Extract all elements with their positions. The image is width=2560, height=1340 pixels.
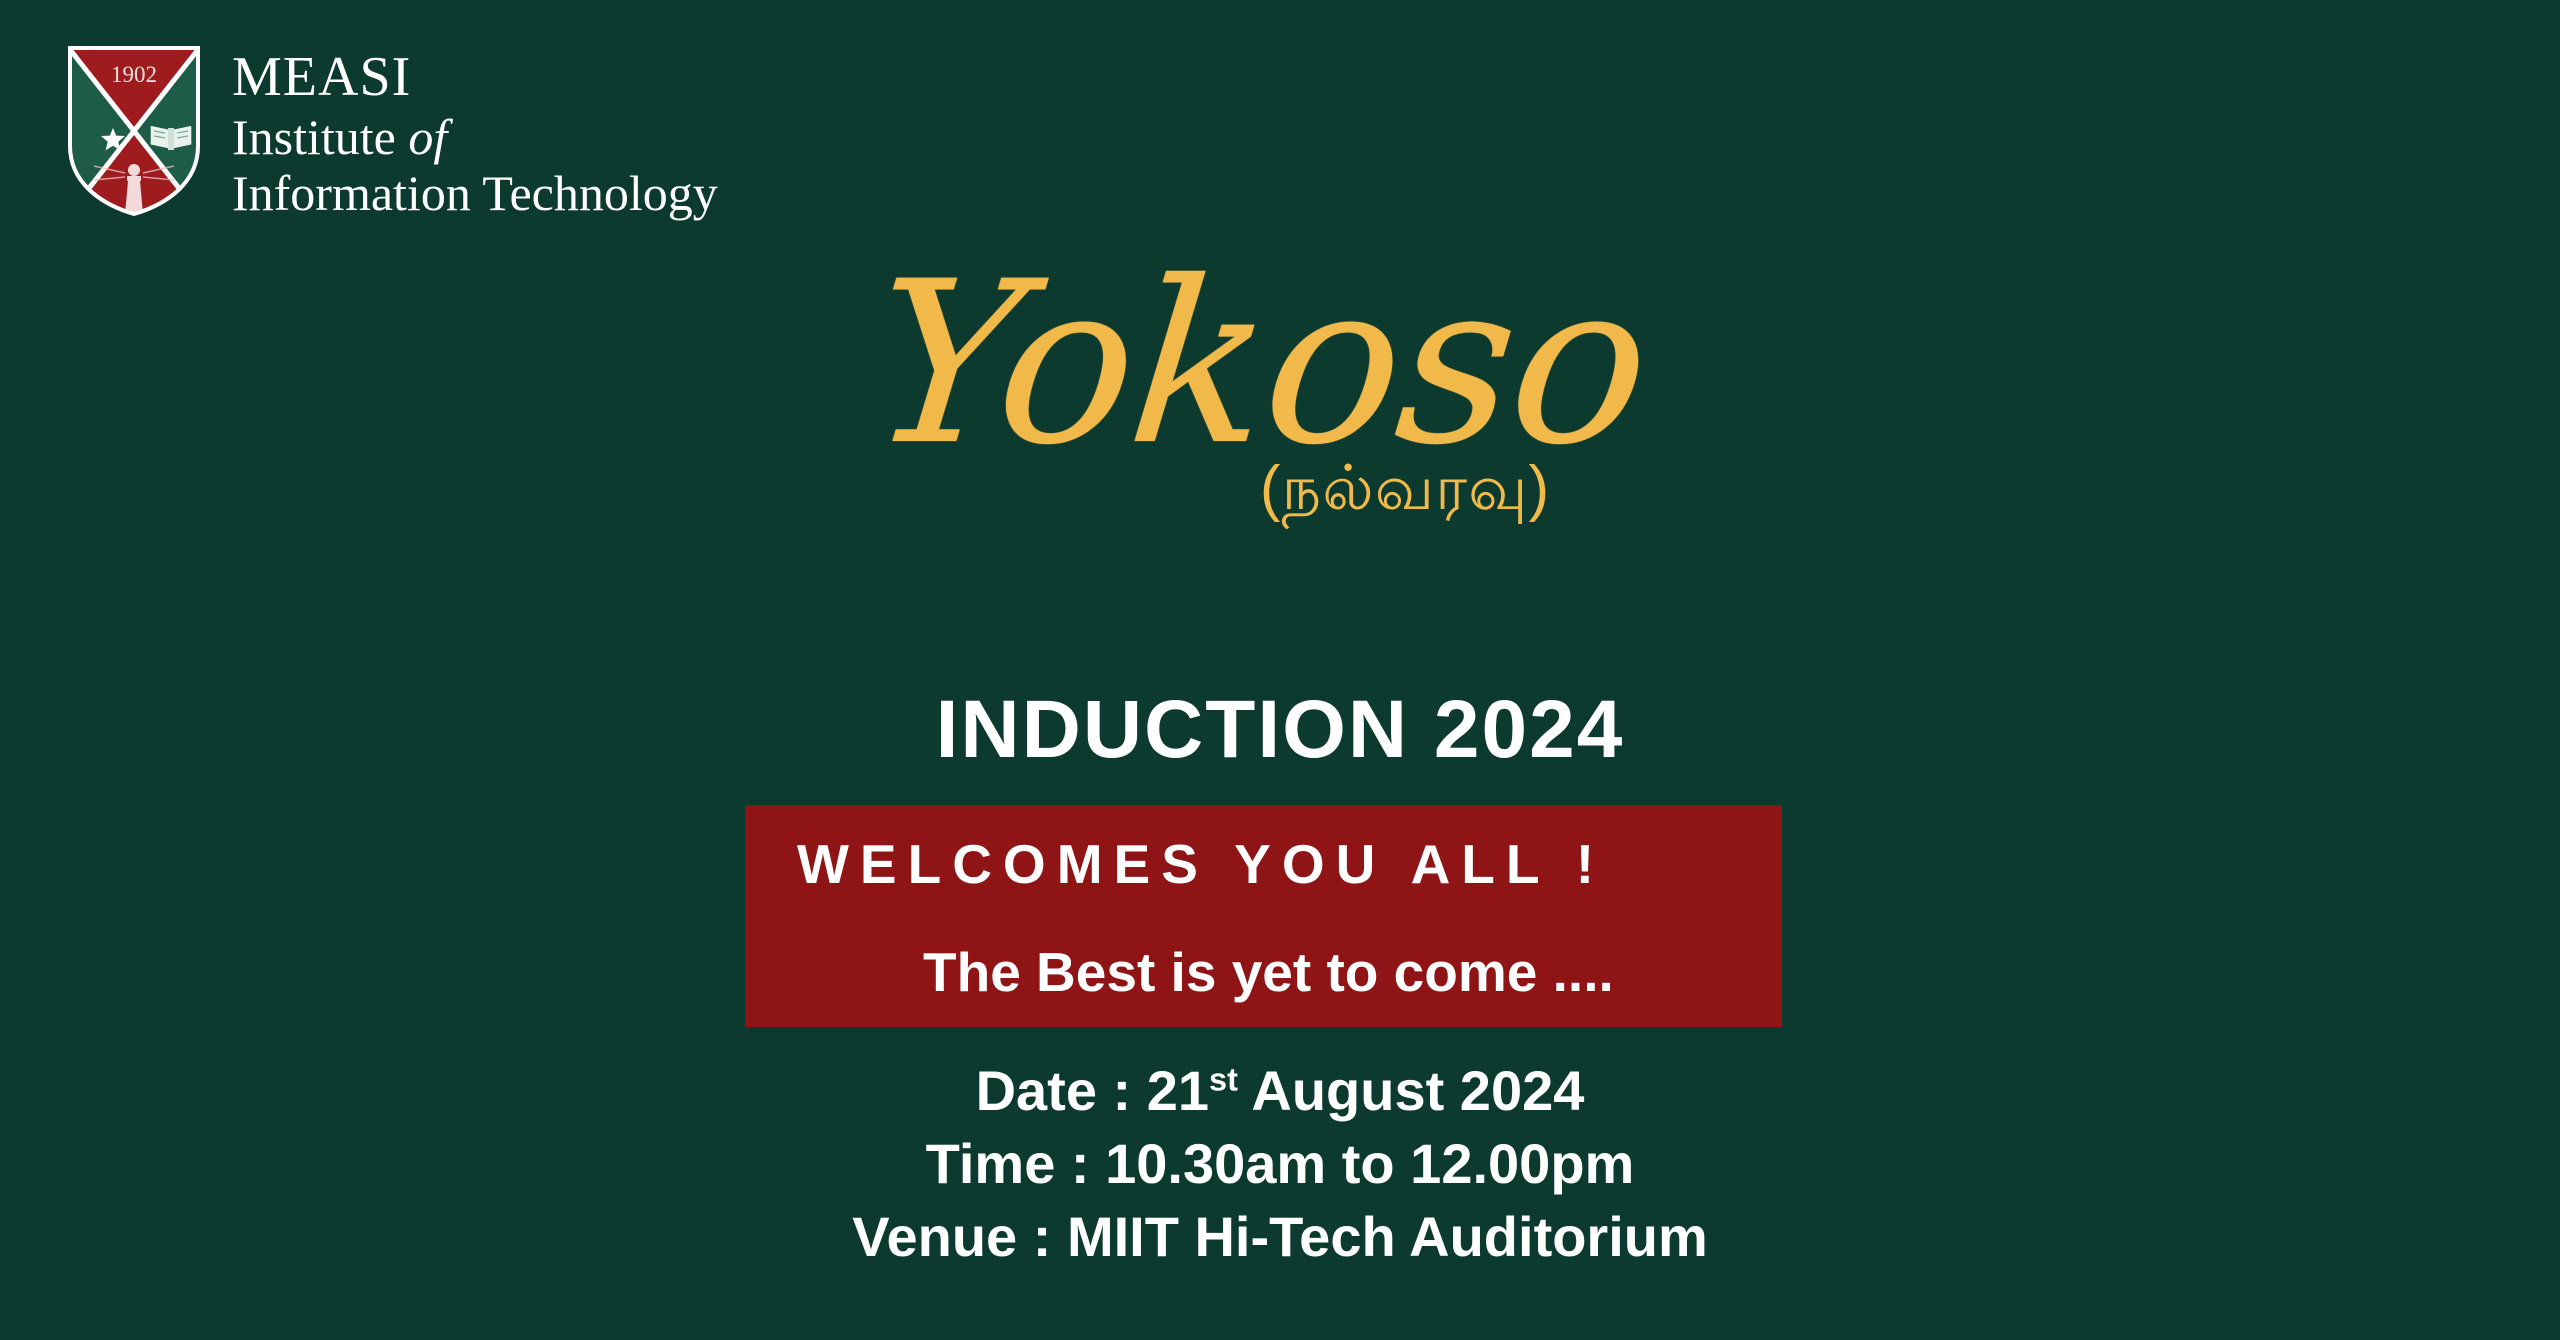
hero-title-block: Yokoso (நல்வரவு) [0, 258, 2560, 533]
event-venue-line: Venue : MIIT Hi-Tech Auditorium [0, 1201, 2560, 1274]
svg-text:1902: 1902 [111, 62, 157, 87]
logo-wordmark: MEASI Institute of Information Technolog… [232, 42, 718, 221]
measi-crest-icon: 1902 [64, 42, 204, 217]
event-date-suffix: August 2024 [1238, 1059, 1584, 1122]
logo-of-word: of [408, 109, 447, 165]
event-time-line: Time : 10.30am to 12.00pm [0, 1128, 2560, 1201]
institution-logo: 1902 [64, 42, 718, 221]
banner-welcome-text: WELCOMES YOU ALL ! [745, 832, 1782, 896]
event-date-ordinal: st [1209, 1061, 1238, 1097]
event-date-line: Date : 21st August 2024 [0, 1055, 2560, 1128]
welcome-banner: WELCOMES YOU ALL ! The Best is yet to co… [745, 805, 1782, 1027]
logo-line-measi: MEASI [232, 46, 718, 109]
event-details: Date : 21st August 2024 Time : 10.30am t… [0, 1055, 2560, 1273]
yokoso-script-title: Yokoso [863, 258, 1657, 471]
banner-tagline: The Best is yet to come .... [745, 940, 1782, 1004]
event-title: INDUCTION 2024 [0, 683, 2560, 777]
event-date-prefix: Date : 21 [976, 1059, 1209, 1122]
logo-line-information-technology: Information Technology [232, 165, 718, 221]
poster-canvas: 1902 [0, 0, 2560, 1340]
logo-line-institute: Institute of [232, 109, 718, 165]
logo-institute-word: Institute [232, 109, 408, 165]
